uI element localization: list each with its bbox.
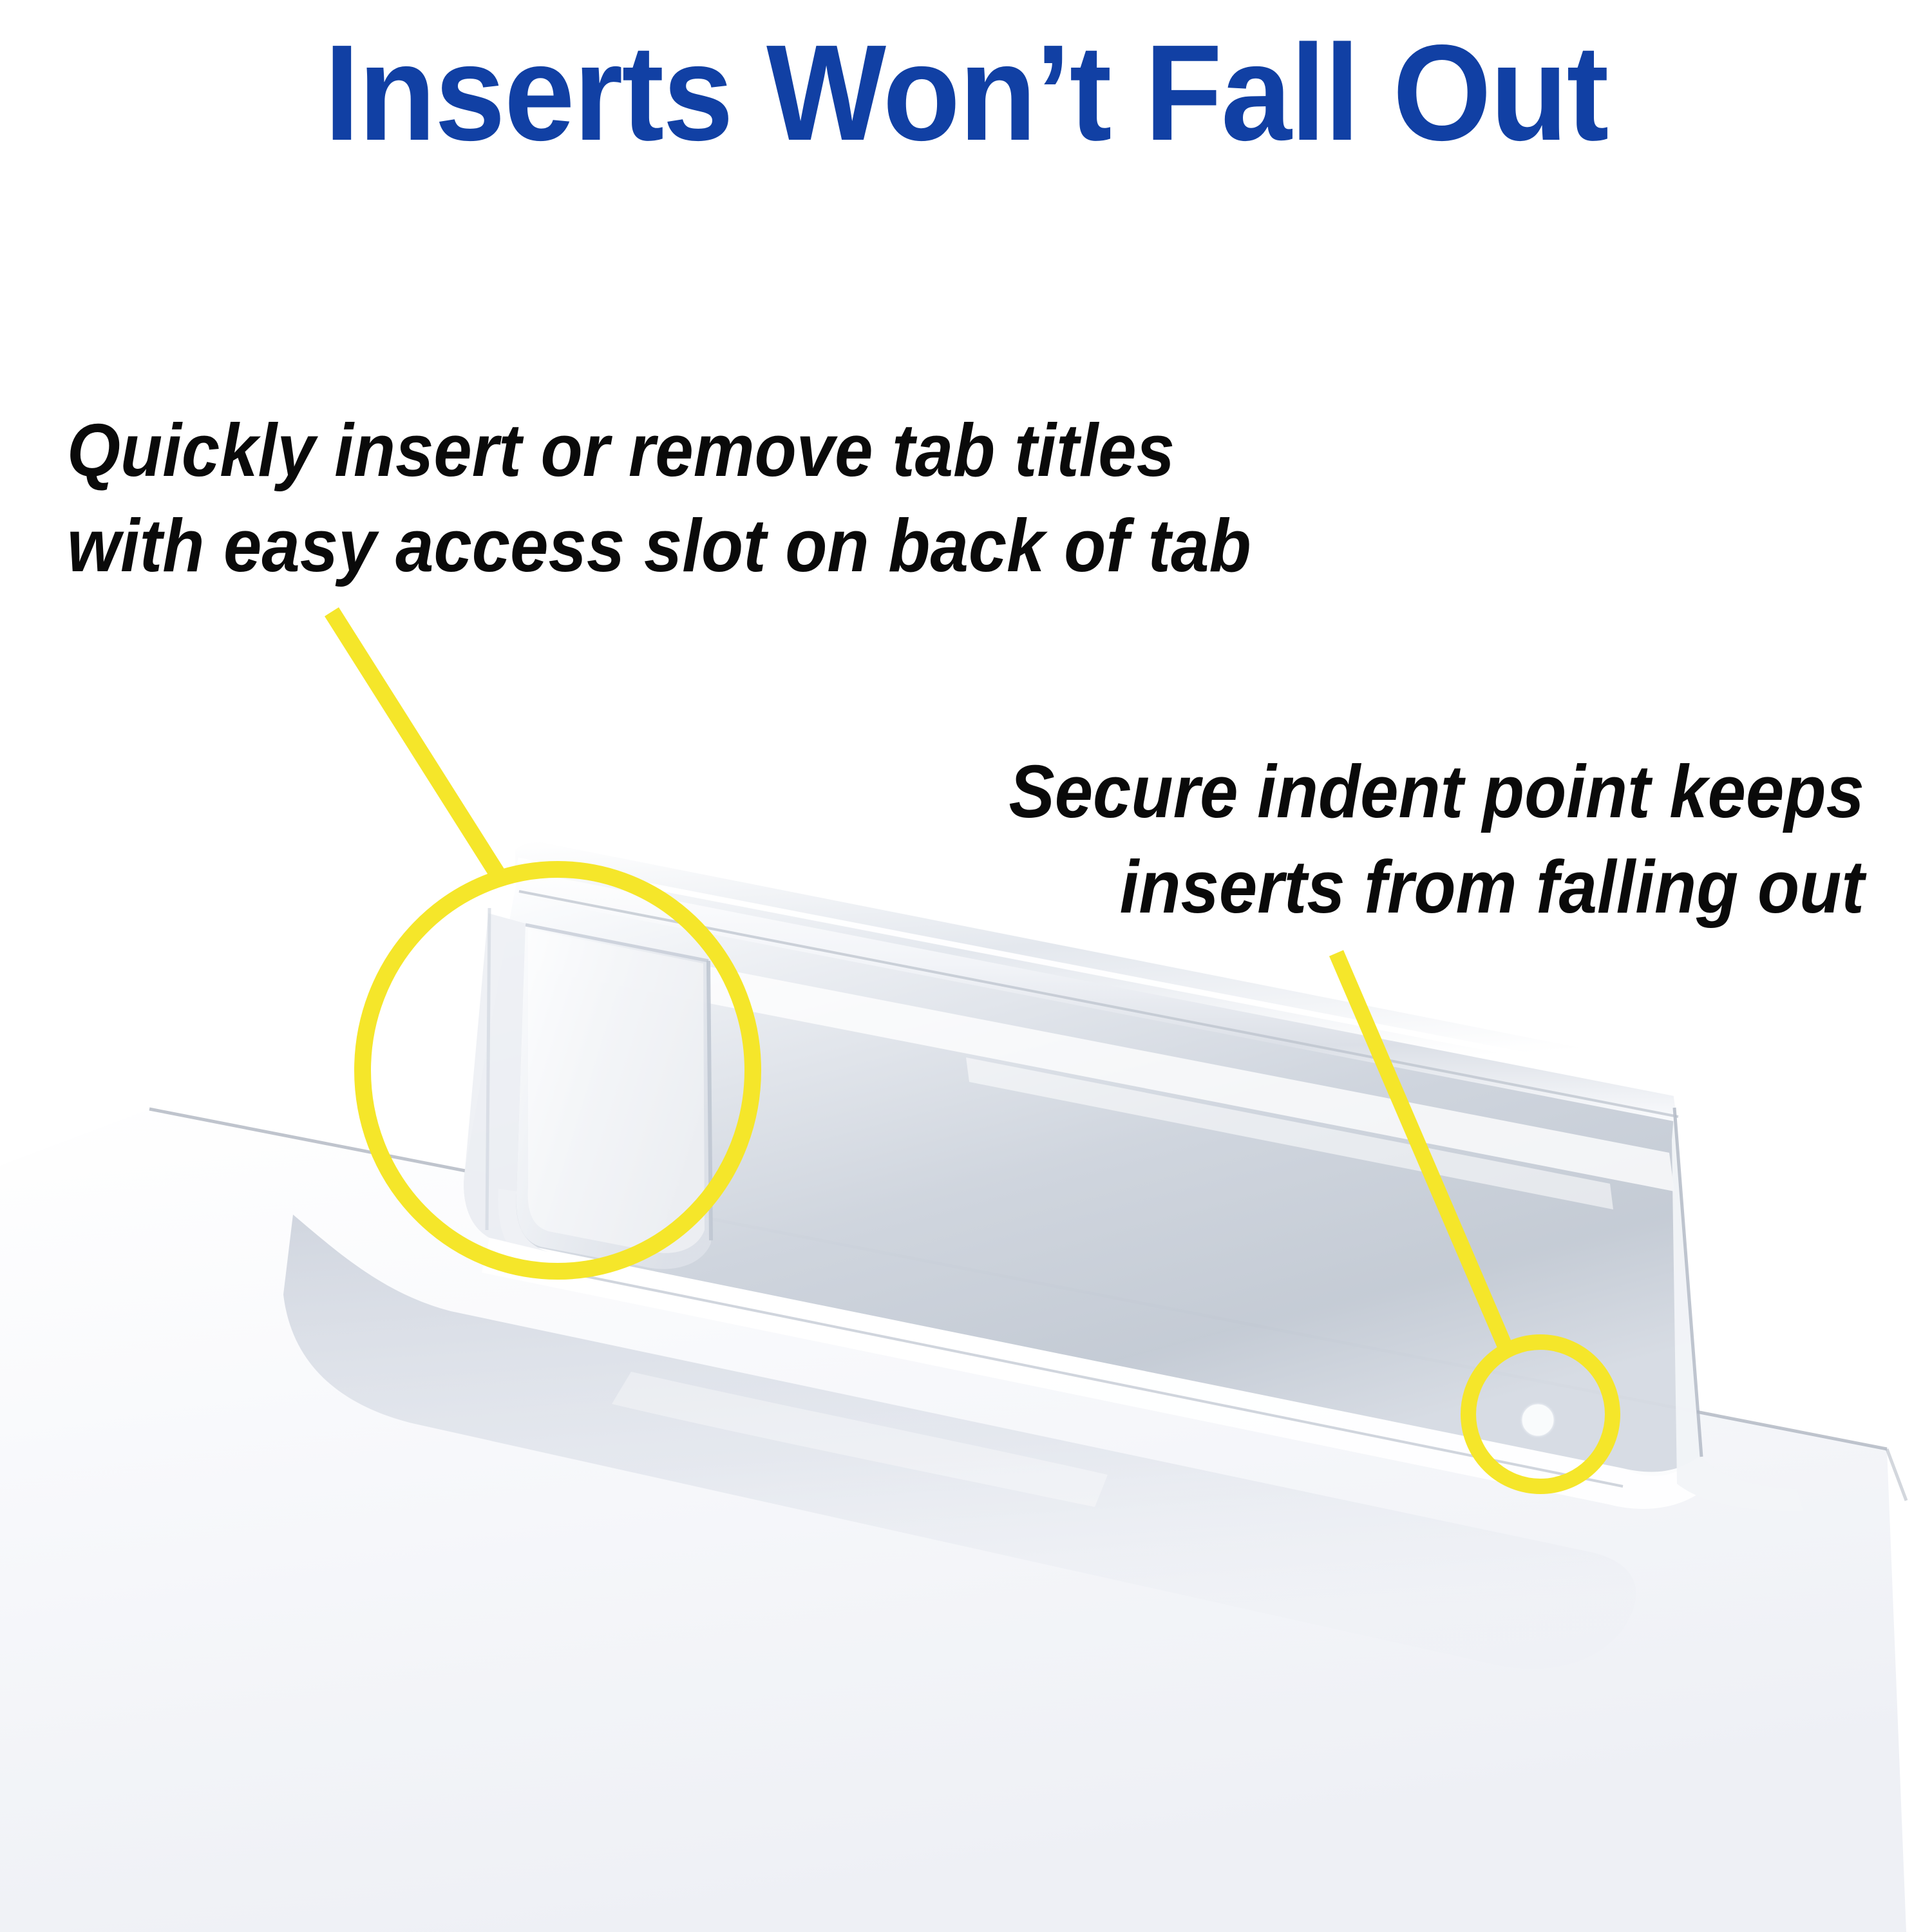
- page-title: Inserts Won’t Fall Out: [68, 22, 1864, 164]
- callout-text-insert-remove-tab-titles: Quickly insert or remove tab titles with…: [67, 402, 1251, 593]
- callout-left-line-2: with easy access slot on back of tab: [67, 498, 1251, 593]
- callout-right-line-2: inserts from falling out: [1009, 839, 1864, 934]
- callout-left-line-1: Quickly insert or remove tab titles: [67, 402, 1251, 498]
- product-photo: [0, 805, 1932, 1932]
- callout-right-line-1: Secure indent point keeps: [1009, 744, 1864, 839]
- access-slot: [498, 923, 711, 1271]
- callout-text-secure-indent-point: Secure indent point keeps inserts from f…: [1009, 744, 1864, 934]
- infographic-page: Inserts Won’t Fall Out: [0, 0, 1932, 1932]
